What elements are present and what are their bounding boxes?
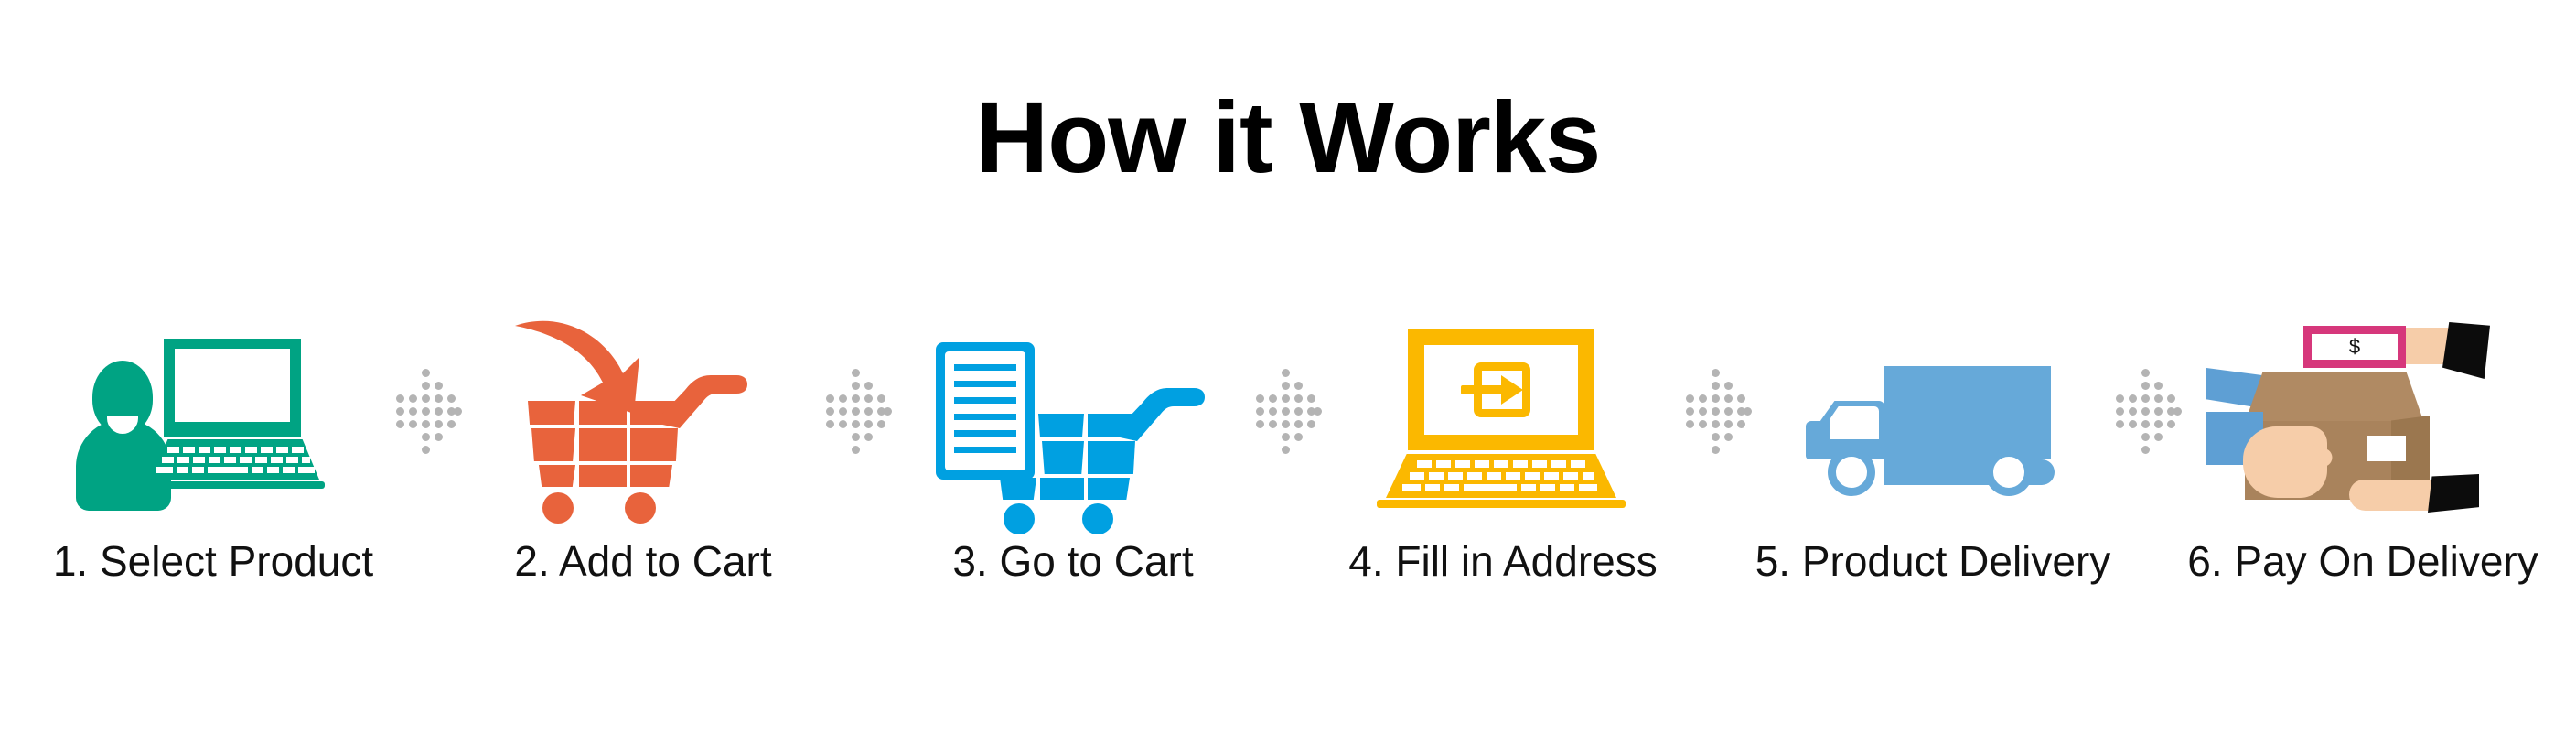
step-5-label: 5. Product Delivery [1755, 536, 2111, 586]
dollar-symbol: $ [2312, 334, 2398, 360]
truck-cab-front [1806, 421, 1833, 459]
cart-handle [1106, 381, 1207, 441]
separator-2 [817, 302, 899, 513]
cart-basket-top-mid [579, 401, 627, 425]
laptop-screen-inner [175, 349, 290, 422]
keyboard-row-3 [156, 467, 316, 473]
step-5-icon-box [1759, 302, 2107, 513]
document-line-2 [954, 381, 1016, 387]
package-shipping-label [2367, 436, 2406, 461]
cart-basket-bot-mid [1040, 478, 1084, 500]
step-3-go-to-cart[interactable]: 3. Go to Cart [899, 302, 1247, 586]
keyboard-row-2 [162, 457, 310, 463]
separator-1 [387, 302, 469, 513]
cart-basket-top-left [528, 401, 575, 425]
separator-4 [1677, 302, 1759, 513]
dotted-arrow-right-icon [394, 369, 462, 446]
step-6-label: 6. Pay On Delivery [2187, 536, 2538, 586]
step-5-product-delivery[interactable]: 5. Product Delivery [1759, 302, 2107, 586]
how-it-works-infographic: How it Works [0, 0, 2576, 745]
cart-wheel-right [1082, 503, 1113, 534]
truck-wheel-rear [1985, 448, 2033, 496]
receiving-hand-cuff [2428, 474, 2479, 513]
step-3-label: 3. Go to Cart [952, 536, 1193, 586]
cart-basket-bot-mid [579, 465, 627, 487]
document-line-3 [954, 397, 1016, 404]
document-line-1 [954, 364, 1016, 371]
dotted-arrow-right-icon [2114, 369, 2182, 446]
separator-5 [2107, 302, 2189, 513]
truck-wheel-front [1828, 448, 1875, 496]
cart-basket-bot-left [539, 465, 575, 487]
document-line-5 [954, 430, 1016, 437]
step-2-icon-box [469, 302, 817, 513]
step-4-icon-box [1329, 302, 1677, 513]
login-arrow-head [1501, 375, 1523, 405]
cart-basket-mid-right [1088, 441, 1135, 474]
step-1-label: 1. Select Product [53, 536, 373, 586]
page-title: How it Works [0, 88, 2576, 189]
step-1-icon-box [39, 302, 387, 513]
step-2-label: 2. Add to Cart [514, 536, 771, 586]
cart-basket-bot-right [1088, 478, 1130, 500]
steps-row: 1. Select Product [0, 302, 2576, 686]
paying-hand-cuff [2442, 322, 2490, 379]
truck-cargo-box [1884, 366, 2051, 459]
step-2-add-to-cart[interactable]: 2. Add to Cart [469, 302, 817, 586]
arrow-into-cart-icon [515, 329, 771, 513]
keyboard-row-1 [167, 447, 305, 453]
laptop-base-bar [1377, 500, 1626, 508]
dotted-arrow-right-icon [1684, 369, 1752, 446]
step-6-icon-box: $ [2189, 302, 2537, 513]
laptop-login-icon [1366, 329, 1640, 513]
cart-wheel-left [1004, 503, 1035, 534]
step-4-label: 4. Fill in Address [1348, 536, 1657, 586]
document-line-4 [954, 414, 1016, 420]
cart-wheel-right [625, 492, 656, 524]
dotted-arrow-right-icon [824, 369, 892, 446]
truck-window [1830, 406, 1879, 439]
laptop-base-bar [145, 481, 325, 489]
delivery-truck-icon [1800, 357, 2066, 513]
person-at-laptop-icon [76, 339, 350, 513]
package-box-lid [2245, 372, 2424, 423]
cart-basket-mid-left [531, 428, 575, 461]
document-icon [936, 342, 1035, 480]
cart-basket-bot-right [630, 465, 672, 487]
separator-3 [1247, 302, 1329, 513]
cart-basket-top-mid [1038, 414, 1084, 437]
step-6-pay-on-delivery[interactable]: $ 6. Pay On Delivery [2189, 302, 2537, 586]
banknote: $ [2303, 326, 2406, 368]
cart-basket-mid-mid [1042, 441, 1084, 474]
dotted-arrow-right-icon [1254, 369, 1322, 446]
cart-basket-mid-mid [579, 428, 627, 461]
document-and-cart-icon [936, 329, 1210, 513]
cart-basket-mid-right [630, 428, 678, 461]
step-3-icon-box [899, 302, 1247, 513]
step-1-select-product[interactable]: 1. Select Product [39, 302, 387, 586]
cart-handle [649, 368, 749, 428]
cart-wheel-left [542, 492, 574, 524]
document-line-6 [954, 447, 1016, 453]
cart-basket-bot-left [1000, 478, 1036, 500]
step-4-fill-in-address[interactable]: 4. Fill in Address [1329, 302, 1677, 586]
cash-on-delivery-icon: $ [2212, 320, 2514, 513]
